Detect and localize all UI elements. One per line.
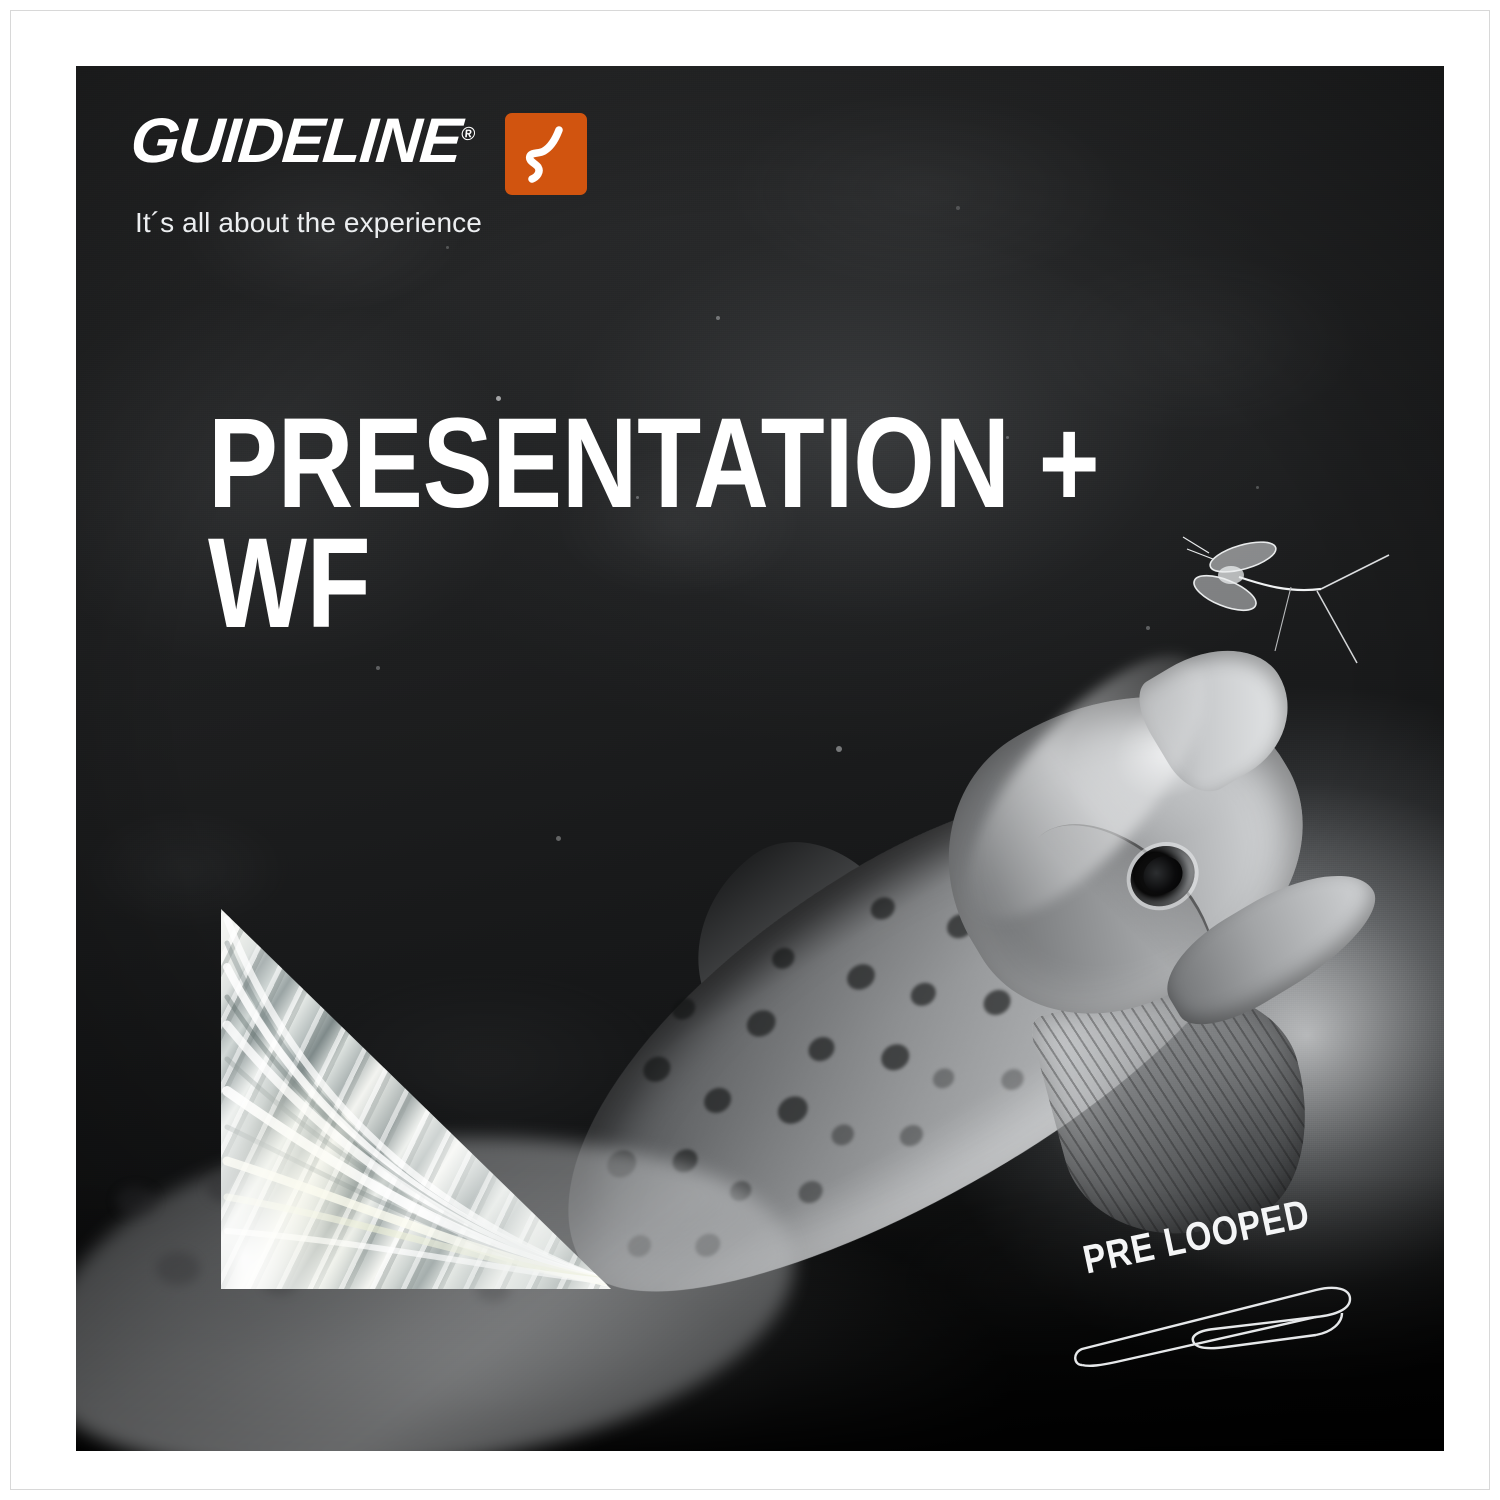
page-title: PRESENTATION + WF	[208, 404, 1099, 645]
brand-tagline: It´s all about the experience	[135, 207, 587, 239]
photo-frame-outer: GUIDELINE® It´s all about the experience…	[0, 0, 1500, 1500]
fly-line-squiggle-icon	[505, 113, 587, 195]
mayfly-icon	[1171, 531, 1401, 681]
pre-looped-badge: PRE LOOPED	[1076, 1231, 1376, 1381]
title-line-2: WF	[208, 524, 1099, 644]
registered-trademark-icon: ®	[460, 124, 476, 145]
product-artwork: GUIDELINE® It´s all about the experience…	[76, 66, 1444, 1451]
photo-frame-inner: GUIDELINE® It´s all about the experience…	[10, 10, 1490, 1490]
brand-wordmark-text: GUIDELINE	[128, 106, 464, 176]
title-line-1: PRESENTATION +	[208, 404, 1099, 524]
looped-fly-line-icon	[1064, 1273, 1374, 1383]
brand-logo: GUIDELINE® It´s all about the experience	[131, 111, 587, 239]
brand-wordmark: GUIDELINE®	[128, 111, 477, 173]
